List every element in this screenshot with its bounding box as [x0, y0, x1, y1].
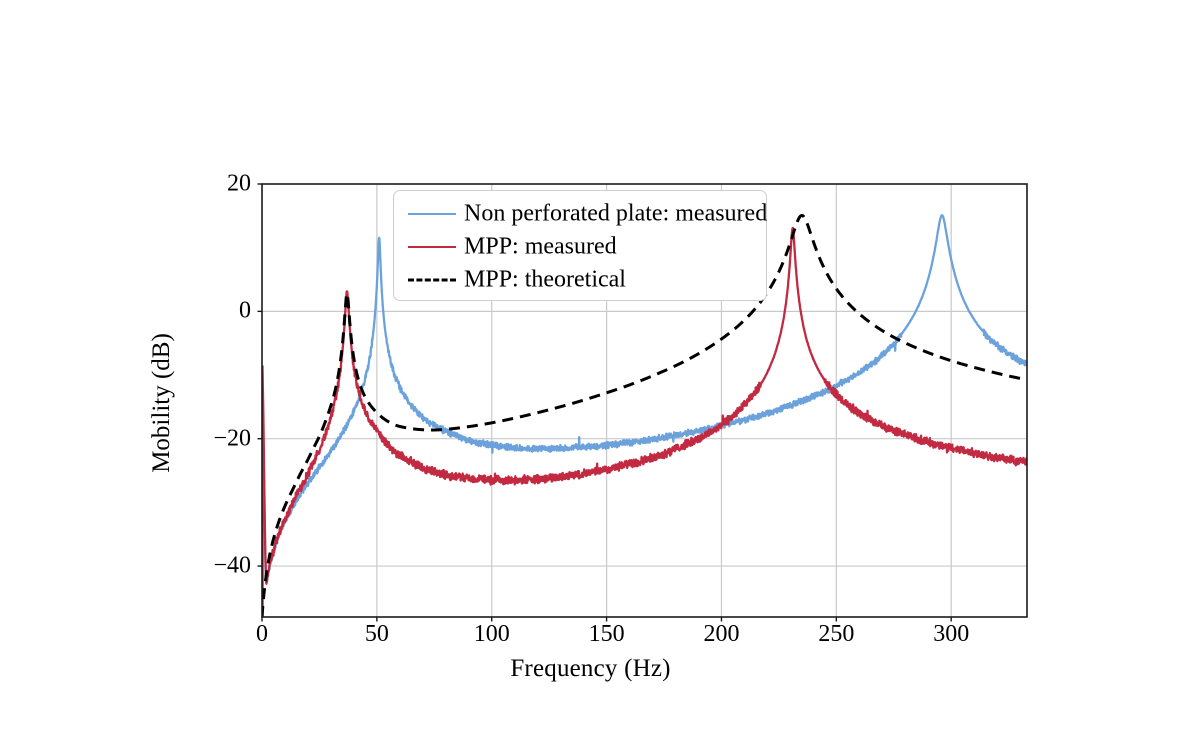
legend-swatch-solid	[408, 246, 456, 248]
y-tick-label: 0	[185, 298, 251, 325]
x-tick-label: 250	[818, 621, 854, 648]
x-tick-label: 0	[256, 621, 268, 648]
legend: Non perforated plate: measuredMPP: measu…	[393, 190, 767, 301]
y-tick-label: 20	[185, 171, 251, 198]
legend-item: Non perforated plate: measured	[394, 197, 766, 230]
y-axis-label: Mobility (dB)	[148, 333, 176, 473]
legend-swatch-dashed	[408, 278, 456, 281]
x-tick-label: 200	[703, 621, 739, 648]
x-tick-label: 300	[933, 621, 969, 648]
x-tick-label: 100	[474, 621, 510, 648]
legend-item: MPP: theoretical	[394, 263, 766, 296]
legend-label: MPP: measured	[464, 233, 617, 260]
y-tick-label: −40	[185, 553, 251, 580]
x-tick-label: 150	[589, 621, 625, 648]
legend-item: MPP: measured	[394, 230, 766, 263]
legend-label: Non perforated plate: measured	[464, 200, 767, 227]
figure-canvas: 050100150200250300 200−20−40 Frequency (…	[0, 0, 1181, 729]
x-axis-label: Frequency (Hz)	[0, 655, 1181, 683]
legend-swatch-solid	[408, 213, 456, 215]
y-tick-label: −20	[185, 425, 251, 452]
x-tick-label: 50	[365, 621, 389, 648]
legend-label: MPP: theoretical	[464, 266, 626, 293]
y-axis-label-wrap: Mobility (dB)	[139, 189, 185, 617]
